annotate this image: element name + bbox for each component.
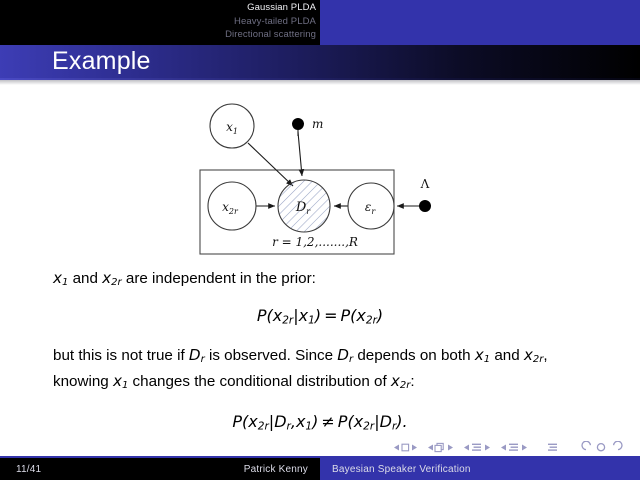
inline-var-x1-b: x1: [113, 372, 128, 390]
paragraph1-pre: and: [68, 270, 102, 287]
inline-var-x2r: x2r: [102, 269, 122, 287]
beamer-navigation-symbols[interactable]: [0, 441, 640, 457]
inline-var-x2r-a: x2r: [524, 346, 544, 364]
seg3: depends on both: [353, 347, 475, 364]
frame-next-icon: [448, 445, 453, 451]
headline-bar: Gaussian PLDA Heavy-tailed PLDA Directio…: [0, 0, 640, 45]
slide-icon: [402, 444, 409, 451]
presentation-icon: [548, 444, 557, 451]
edge-x1-to-Dr: [248, 143, 293, 186]
node-m-label: m: [312, 117, 323, 131]
search-icon: [597, 444, 604, 451]
equation-conditional-dependence: P(x2r|Dr,x1)≠P(x2r|Dr).: [0, 412, 640, 432]
footer-author: Patrick Kenny: [0, 464, 308, 475]
footer-presentation-title: Bayesian Speaker Verification: [332, 464, 471, 475]
node-Lambda-dot: [419, 200, 431, 212]
inline-var-Dr-1: Dr: [189, 346, 205, 364]
forward-icon: [614, 441, 622, 449]
frame-prev-icon: [428, 445, 433, 451]
diagram-canvas: x1 m x2r Dr εr Λ r = 1,2,.......,R: [185, 96, 455, 261]
node-Lambda-label: Λ: [420, 177, 430, 191]
frame-icon-front: [435, 445, 441, 451]
edge-m-to-Dr: [298, 132, 302, 176]
toc-item-heavy-tailed-plda[interactable]: Heavy-tailed PLDA: [0, 15, 318, 29]
node-m-dot: [292, 118, 304, 130]
seg6: changes the conditional distribution of: [128, 373, 391, 390]
toc-item-directional-scattering[interactable]: Directional scattering: [0, 28, 318, 42]
paragraph-explanation: but this is not true if Dr is observed. …: [0, 345, 640, 396]
footline-bar: 11/41 Patrick Kenny Bayesian Speaker Ver…: [0, 458, 640, 480]
plate-label: r = 1,2,.......,R: [272, 235, 358, 249]
inline-var-x1: x1: [53, 269, 68, 287]
paragraph1-post: are independent in the prior:: [122, 270, 316, 287]
paragraph-independence: x1 and x2r are independent in the prior:: [0, 268, 640, 294]
subsection-next-icon: [485, 445, 490, 451]
nav-symbols-svg[interactable]: [390, 441, 626, 454]
section-icon: [509, 444, 518, 451]
frame-title-shadow: [0, 80, 640, 85]
headline-bar-right-fill: [320, 0, 640, 45]
subsection-prev-icon: [464, 445, 469, 451]
inline-var-Dr-2: Dr: [337, 346, 353, 364]
node-x2r-circle: [208, 182, 256, 230]
bayesian-network-diagram: x1 m x2r Dr εr Λ r = 1,2,.......,R: [185, 96, 455, 261]
slide-prev-icon: [394, 445, 399, 451]
subsection-icon: [472, 444, 481, 451]
section-prev-icon: [501, 445, 506, 451]
inline-var-x2r-b: x2r: [391, 372, 411, 390]
seg7: :: [410, 373, 414, 390]
seg4: and: [490, 347, 524, 364]
navigation-mini-toc: Gaussian PLDA Heavy-tailed PLDA Directio…: [0, 1, 318, 42]
seg2: is observed. Since: [205, 347, 338, 364]
equation-prior-independence: P(x2r|x1)=P(x2r): [0, 306, 640, 326]
toc-item-gaussian-plda[interactable]: Gaussian PLDA: [0, 1, 318, 15]
page-title: Example: [52, 47, 151, 76]
slide-next-icon: [412, 445, 417, 451]
slide-body: x1 and x2r are independent in the prior:…: [0, 268, 640, 433]
section-next-icon: [522, 445, 527, 451]
seg1: but this is not true if: [53, 347, 189, 364]
back-icon: [582, 441, 590, 449]
inline-var-x1-a: x1: [475, 346, 490, 364]
